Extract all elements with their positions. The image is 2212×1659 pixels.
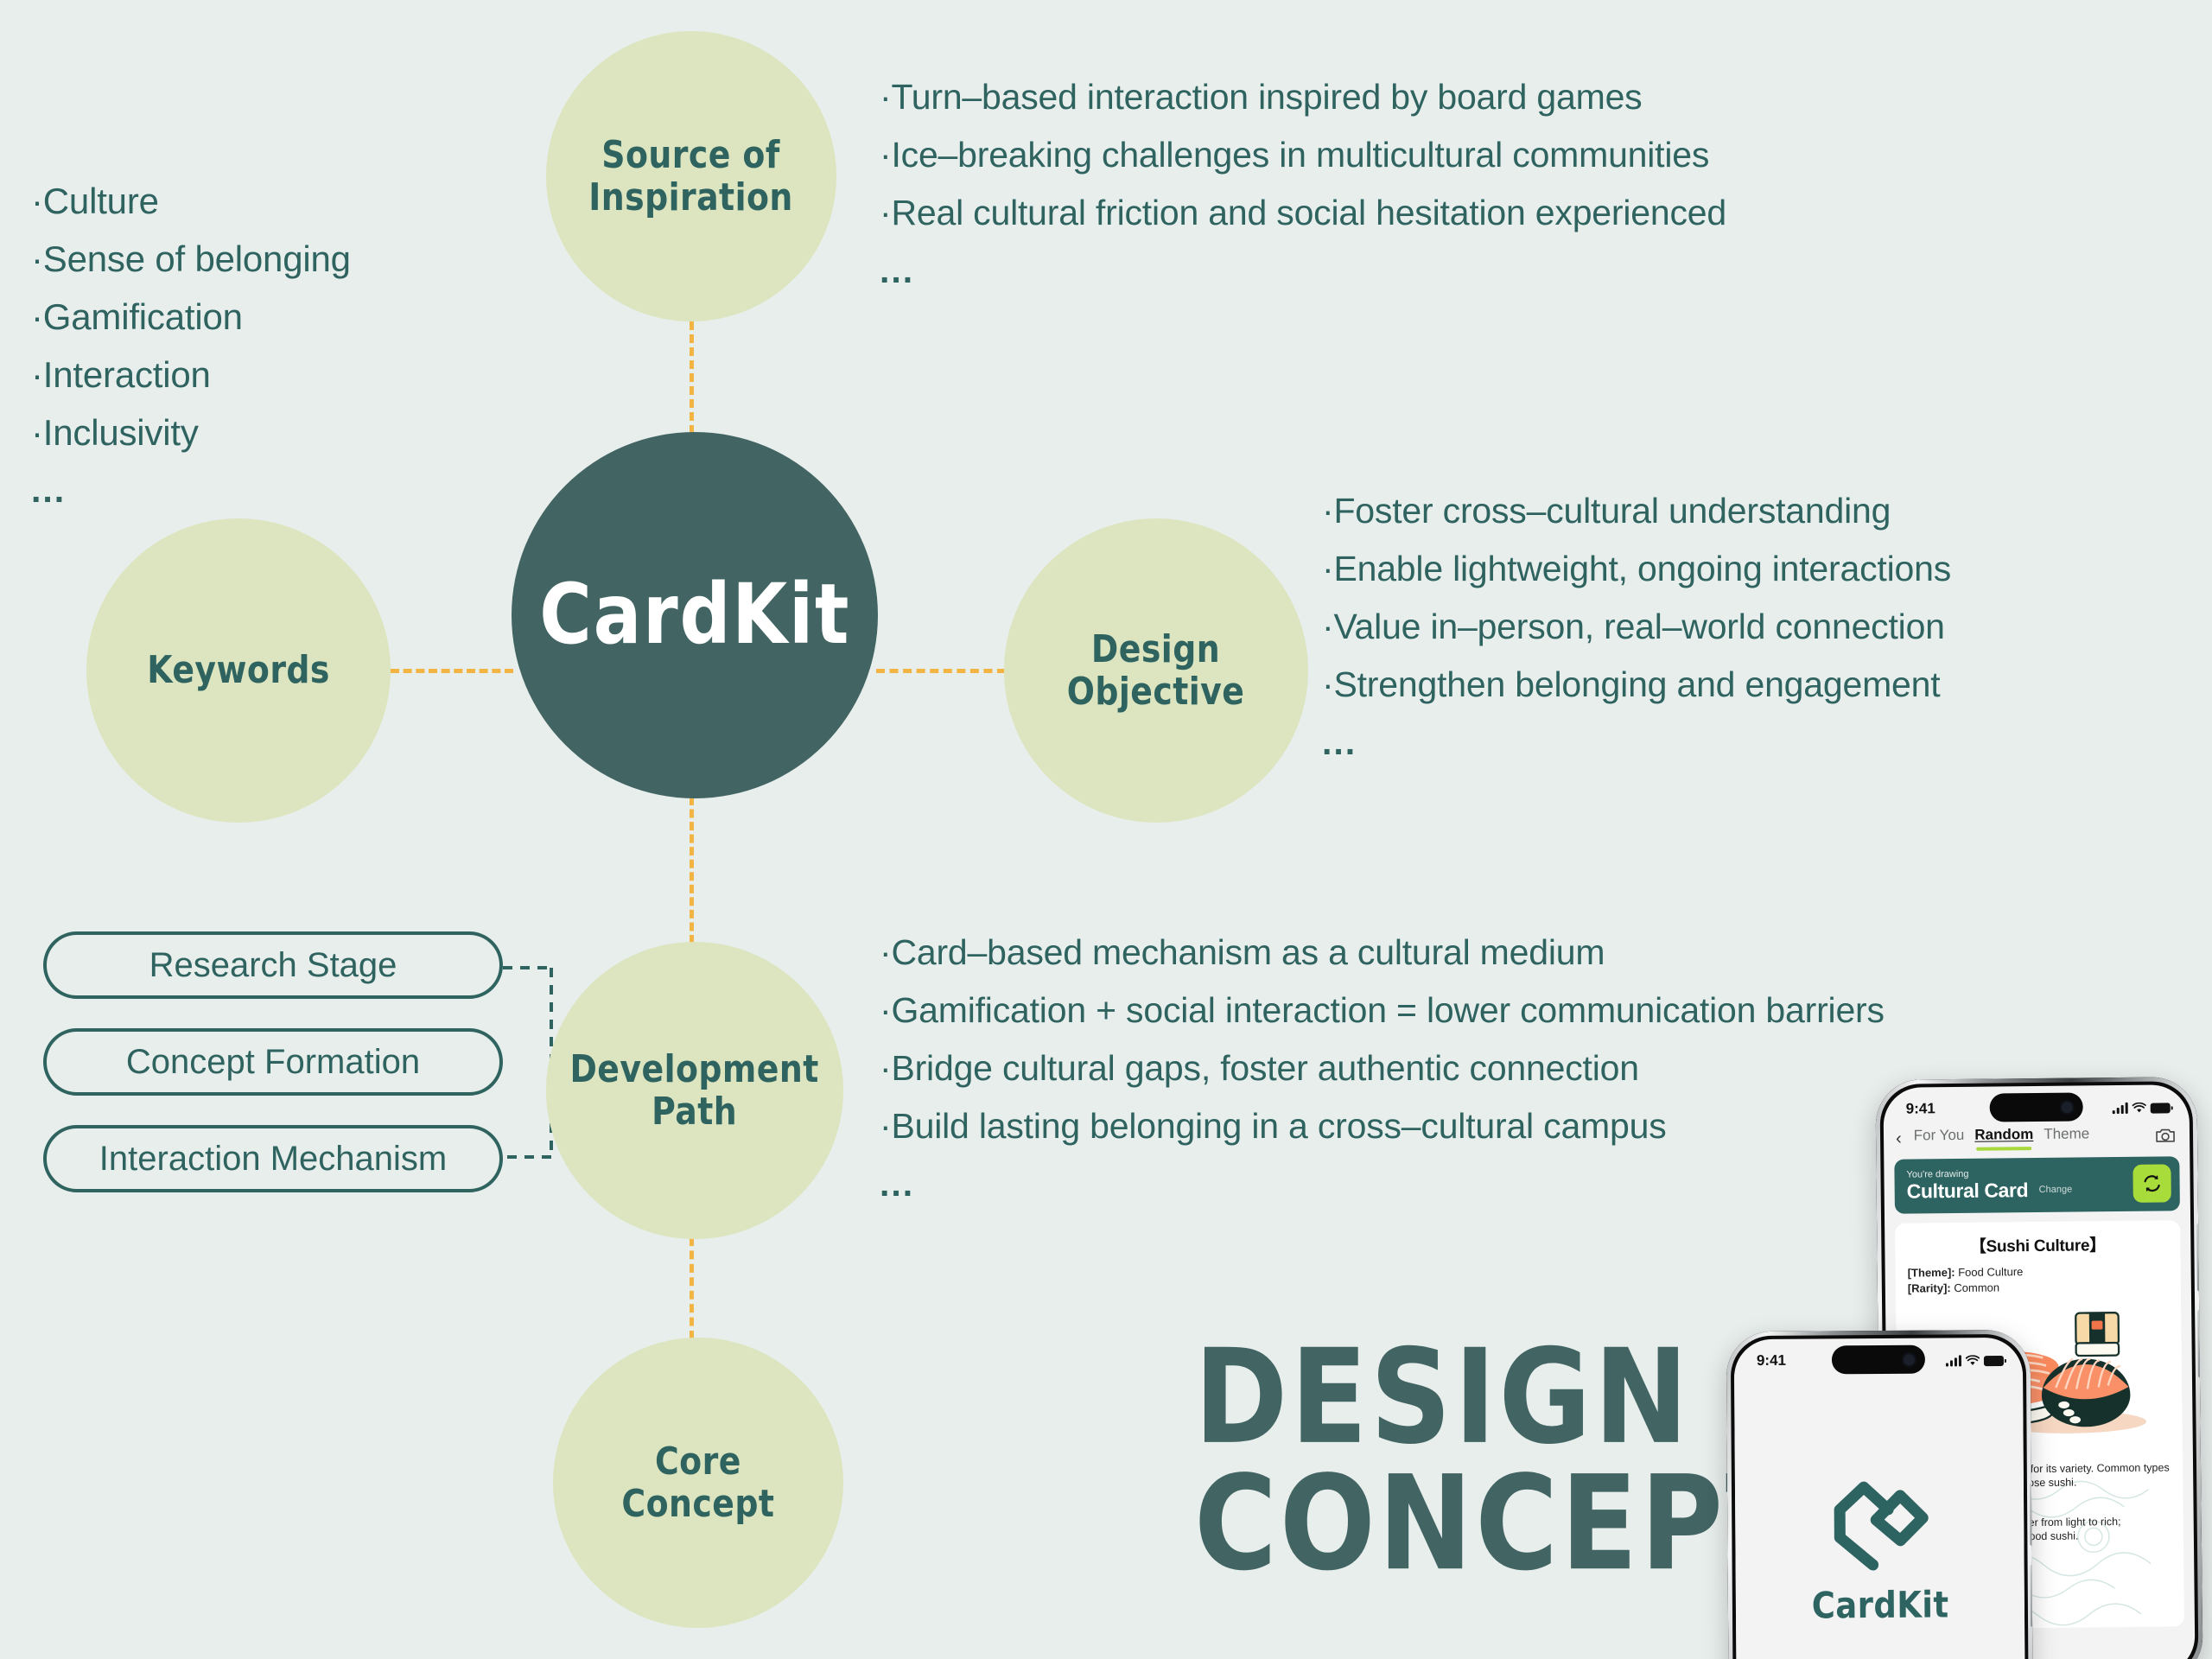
node-design-objective[interactable]: Design Objective: [1004, 518, 1308, 823]
status-bar: 9:41: [1734, 1338, 2023, 1374]
page-title-line-2: CONCEPT: [1194, 1462, 1805, 1589]
app-tab-bar: ‹ For You Random Theme: [1884, 1119, 2190, 1153]
devpath-bullet-list: ·Card–based mechanism as a cultural medi…: [880, 935, 1885, 1202]
label-line-1: Core: [655, 1440, 741, 1484]
stage-pill-label: Interaction Mechanism: [99, 1140, 447, 1179]
camera-icon[interactable]: [2155, 1126, 2176, 1144]
list-item: ·Card–based mechanism as a cultural medi…: [880, 935, 1885, 970]
change-button[interactable]: Change: [2039, 1185, 2073, 1195]
keywords-bullet-list: ·Culture ·Sense of belonging ·Gamificati…: [31, 183, 351, 508]
stage-pill-concept-formation[interactable]: Concept Formation: [43, 1028, 503, 1096]
card-theme-key: [Theme]:: [1908, 1266, 1955, 1280]
list-ellipsis: ...: [880, 1166, 1885, 1202]
list-item: ·Strengthen belonging and engagement: [1322, 667, 1951, 702]
label-line-1: Design: [1091, 627, 1220, 671]
list-item: ·Gamification: [31, 299, 351, 335]
list-item: ·Build lasting belonging in a cross–cult…: [880, 1109, 1885, 1144]
page-title: DESIGN CONCEPT: [1194, 1335, 1805, 1588]
front-camera-icon: [2060, 1100, 2075, 1115]
card-rarity-key: [Rarity]:: [1908, 1281, 1951, 1295]
refresh-button[interactable]: [2133, 1164, 2171, 1202]
refresh-icon: [2140, 1172, 2163, 1194]
dynamic-island: [1832, 1345, 1925, 1375]
list-item: ·Gamification + social interaction = low…: [880, 993, 1885, 1028]
phone-screen: 9:41: [1734, 1338, 2026, 1659]
list-ellipsis: ...: [31, 473, 351, 508]
card-title: 【Sushi Culture】: [1907, 1231, 2168, 1257]
card-rarity-value: Common: [1954, 1281, 1999, 1294]
list-item: ·Enable lightweight, ongoing interaction…: [1322, 551, 1951, 587]
volume-down-button[interactable]: [2197, 1310, 2202, 1377]
card-meta: [Theme]: Food Culture [Rarity]: Common: [1908, 1262, 2169, 1295]
stage-pill-research-stage[interactable]: Research Stage: [43, 931, 503, 999]
poster-canvas: Source of Inspiration Keywords CardKit D…: [0, 0, 2212, 1659]
node-design-objective-label: Design Objective: [1067, 628, 1245, 714]
list-item: ·Bridge cultural gaps, foster authentic …: [880, 1051, 1885, 1086]
tab-for-you[interactable]: For You: [1914, 1127, 1965, 1149]
connector-keywords-to-core: [391, 669, 513, 673]
dynamic-island: [1990, 1092, 2083, 1122]
node-source-of-inspiration-label: Source of Inspiration: [589, 134, 794, 219]
node-keywords-label: Keywords: [147, 649, 330, 691]
connector-core-to-objective: [876, 669, 1006, 673]
list-item: ·Value in–person, real–world connection: [1322, 609, 1951, 645]
cellular-signal-icon: [1946, 1355, 1961, 1366]
list-ellipsis: ...: [1322, 725, 1951, 760]
stage-pill-interaction-mechanism[interactable]: Interaction Mechanism: [43, 1125, 503, 1192]
list-item: ·Ice–breaking challenges in multicultura…: [880, 137, 1726, 173]
label-line-2: Objective: [1067, 670, 1245, 714]
label-line-1: Development: [570, 1047, 819, 1091]
drawing-banner-text: You're drawing Cultural Card Change: [1906, 1166, 2133, 1203]
node-development-path-label: Development Path: [570, 1048, 819, 1134]
tab-theme[interactable]: Theme: [2044, 1125, 2089, 1147]
status-indicators: [1946, 1352, 2004, 1366]
node-core-concept-label: Core Concept: [621, 1440, 774, 1526]
tab-random[interactable]: Random: [1974, 1126, 2033, 1148]
page-title-line-1: DESIGN: [1194, 1335, 1805, 1462]
connector-devpath-to-coreconcept: [690, 1237, 694, 1339]
phone-mockup-splash-screen[interactable]: 9:41: [1726, 1330, 2035, 1659]
connector-source-to-core: [690, 321, 694, 434]
battery-icon: [2151, 1103, 2171, 1113]
brand-name: CardKit: [1811, 1583, 1948, 1626]
label-line-2: Concept: [621, 1482, 774, 1526]
objective-bullet-list: ·Foster cross–cultural understanding ·En…: [1322, 493, 1951, 760]
drawing-banner: You're drawing Cultural Card Change: [1894, 1156, 2180, 1213]
wifi-icon: [2133, 1103, 2146, 1114]
node-development-path[interactable]: Development Path: [546, 942, 843, 1239]
label-line-2: Path: [652, 1090, 737, 1134]
list-item: ·Culture: [31, 183, 351, 219]
list-item: ·Sense of belonging: [31, 241, 351, 277]
chevron-left-icon[interactable]: ‹: [1896, 1129, 1902, 1147]
status-indicators: [2113, 1099, 2171, 1114]
list-item: ·Inclusivity: [31, 415, 351, 451]
label-line-1: Source of: [602, 133, 780, 177]
cardkit-core-label: CardKit: [539, 569, 850, 662]
front-camera-icon: [1902, 1352, 1916, 1367]
list-item: ·Foster cross–cultural understanding: [1322, 493, 1951, 529]
label-line-1: Keywords: [147, 648, 330, 692]
list-item: ·Real cultural friction and social hesit…: [880, 195, 1726, 231]
node-source-of-inspiration[interactable]: Source of Inspiration: [546, 31, 836, 321]
status-bar: 9:41: [1883, 1084, 2189, 1122]
inspiration-bullet-list: ·Turn–based interaction inspired by boar…: [880, 79, 1726, 289]
connector-core-to-devpath: [690, 797, 694, 944]
stage-pill-label: Concept Formation: [126, 1043, 420, 1082]
drawing-title: Cultural Card: [1907, 1179, 2029, 1203]
list-item: ·Interaction: [31, 357, 351, 393]
card-theme-value: Food Culture: [1958, 1265, 2023, 1279]
list-ellipsis: ...: [880, 253, 1726, 289]
wifi-icon: [1966, 1355, 1980, 1366]
splash-content: CardKit: [1734, 1372, 2026, 1659]
cellular-signal-icon: [2113, 1103, 2128, 1114]
label-line-2: Inspiration: [589, 175, 794, 219]
node-core-concept[interactable]: Core Concept: [553, 1338, 843, 1628]
status-time: 9:41: [1757, 1352, 1786, 1370]
node-keywords[interactable]: Keywords: [86, 518, 391, 823]
battery-icon: [1984, 1356, 2004, 1366]
volume-up-button[interactable]: [2196, 1224, 2201, 1291]
cardkit-logo-icon: [1822, 1475, 1937, 1573]
stage-pill-label: Research Stage: [149, 946, 397, 985]
list-item: ·Turn–based interaction inspired by boar…: [880, 79, 1726, 115]
status-time: 9:41: [1906, 1100, 1935, 1117]
node-cardkit-core[interactable]: CardKit: [512, 432, 878, 798]
